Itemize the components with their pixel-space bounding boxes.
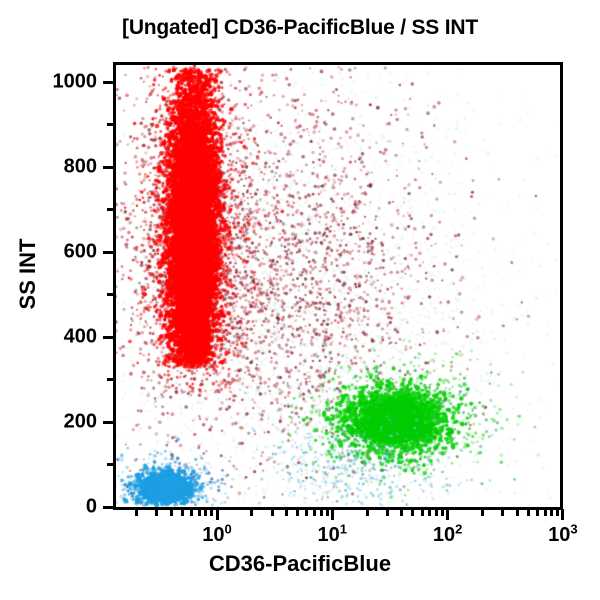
y-axis-tick-label: 1000 [10,71,97,94]
x-axis-major-tick [331,509,334,520]
x-axis-minor-tick [544,509,547,516]
x-axis-minor-tick [366,509,369,516]
x-axis-tick-label: 100 [202,524,231,547]
x-axis-minor-tick [441,509,444,516]
x-axis-minor-tick [181,509,184,516]
y-axis-minor-tick [107,208,114,211]
x-axis-tick-label: 101 [318,524,347,547]
y-axis-major-tick [103,506,114,509]
x-axis-minor-tick [296,509,299,516]
scatter-plot-canvas [116,65,560,507]
y-axis-tick-label: 800 [10,156,97,179]
x-axis-tick-label: 103 [548,524,577,547]
y-axis-tick-label: 0 [10,496,97,519]
x-axis-minor-tick [501,509,504,516]
y-axis-tick-label: 200 [10,411,97,434]
x-axis-minor-tick [386,509,389,516]
x-axis-minor-tick [326,509,329,516]
x-axis-minor-tick [428,509,431,516]
x-axis-minor-tick [435,509,438,516]
x-axis-minor-tick [305,509,308,516]
x-axis-minor-tick [516,509,519,516]
x-axis-minor-tick [271,509,274,516]
x-axis-tick-label: 102 [433,524,462,547]
x-axis-minor-tick [135,509,138,516]
x-axis-minor-tick [481,509,484,516]
page-title: [Ungated] CD36-PacificBlue / SS INT [0,16,600,40]
plot-area [113,62,563,510]
x-axis-minor-tick [527,509,530,516]
x-axis-minor-tick [421,509,424,516]
y-axis-minor-tick [107,463,114,466]
y-axis-title: SS INT [15,199,41,349]
x-axis-minor-tick [411,509,414,516]
y-axis-minor-tick [107,123,114,126]
x-axis-minor-tick [204,509,207,516]
y-axis-minor-tick [107,378,114,381]
x-axis-major-tick [216,509,219,520]
x-axis-minor-tick [210,509,213,516]
x-axis-minor-tick [155,509,158,516]
x-axis-minor-tick [556,509,559,516]
x-axis-minor-tick [313,509,316,516]
x-axis-minor-tick [250,509,253,516]
y-axis-major-tick [103,336,114,339]
y-axis-major-tick [103,251,114,254]
x-axis-minor-tick [320,509,323,516]
y-axis-minor-tick [107,293,114,296]
y-axis-major-tick [103,166,114,169]
x-axis-major-tick [446,509,449,520]
y-axis-major-tick [103,81,114,84]
y-axis-major-tick [103,421,114,424]
x-axis-title: CD36-PacificBlue [0,551,600,577]
x-axis-minor-tick [198,509,201,516]
x-axis-minor-tick [170,509,173,516]
x-axis-minor-tick [400,509,403,516]
x-axis-minor-tick [285,509,288,516]
x-axis-minor-tick [190,509,193,516]
x-axis-major-tick [561,509,564,520]
x-axis-minor-tick [550,509,553,516]
flow-cytometry-plot: [Ungated] CD36-PacificBlue / SS INT 0200… [0,0,600,600]
x-axis-minor-tick [536,509,539,516]
